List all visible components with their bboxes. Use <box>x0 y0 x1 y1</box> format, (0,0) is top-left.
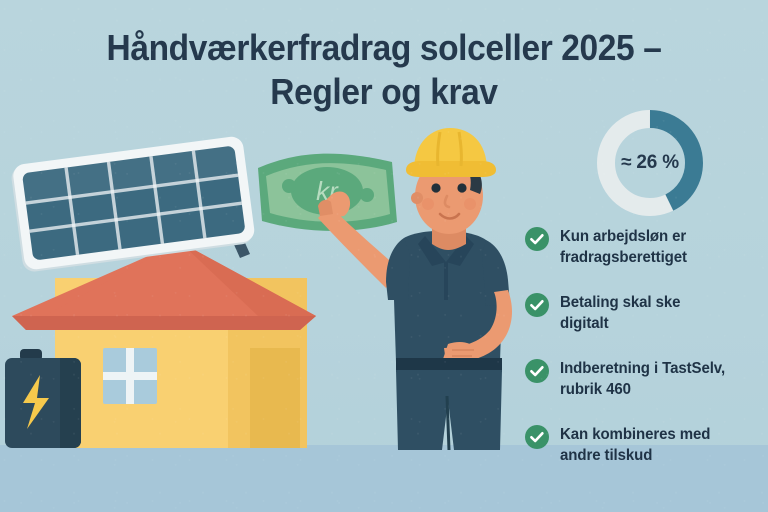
solar-panel <box>10 135 256 273</box>
checklist-item-label: Betaling skal ske digitalt <box>560 292 680 334</box>
checklist-item-label: Kun arbejdsløn er fradragsberettiget <box>560 226 687 268</box>
check-circle-icon <box>525 425 549 449</box>
check-circle-icon <box>525 293 549 317</box>
percentage-donut-chart: ≈ 26 % <box>597 110 703 216</box>
page-title: Håndværkerfradrag solceller 2025 – Regle… <box>27 26 741 114</box>
battery-storage <box>5 349 81 448</box>
checklist-item: Kan kombineres med andre tilskud <box>525 424 763 466</box>
infographic-canvas: kr <box>0 0 768 512</box>
donut-chart-svg <box>597 110 703 216</box>
checklist-item: Kun arbejdsløn er fradragsberettiget <box>525 226 763 268</box>
worker-eye-left <box>431 183 440 192</box>
check-circle-icon <box>525 359 549 383</box>
checklist-item-label: Indberetning i TastSelv, rubrik 460 <box>560 358 725 400</box>
check-circle-icon <box>525 227 549 251</box>
hard-hat <box>406 128 496 177</box>
checklist-item: Indberetning i TastSelv, rubrik 460 <box>525 358 763 400</box>
worker-eye-right <box>457 183 466 192</box>
checklist-item-label: Kan kombineres med andre tilskud <box>560 424 710 466</box>
checklist-item: Betaling skal ske digitalt <box>525 292 763 334</box>
